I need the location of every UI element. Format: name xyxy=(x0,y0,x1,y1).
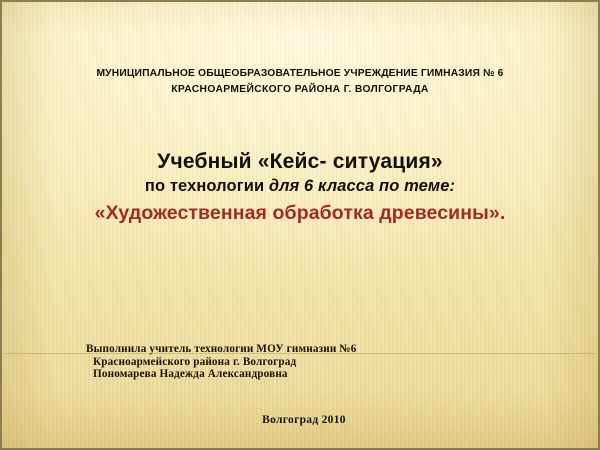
presentation-title-slide: МУНИЦИПАЛЬНОЕ ОБЩЕОБРАЗОВАТЕЛЬНОЕ УЧРЕЖД… xyxy=(0,0,600,450)
title-line-2-italic: для 6 класса по теме: xyxy=(269,177,455,195)
organization-header: МУНИЦИПАЛЬНОЕ ОБЩЕОБРАЗОВАТЕЛЬНОЕ УЧРЕЖД… xyxy=(2,66,598,98)
city-year-footer: Волгоград 2010 xyxy=(2,414,598,426)
title-line-3-subject: «Художественная обработка древесины». xyxy=(2,199,598,227)
title-line-2-plain: по технологии xyxy=(145,177,269,195)
title-line-2: по технологии для 6 класса по теме: xyxy=(2,175,598,198)
author-credit-block: Выполнила учитель технологии МОУ гимнази… xyxy=(86,343,357,381)
author-line-1: Выполнила учитель технологии МОУ гимнази… xyxy=(86,343,357,356)
slide-content: МУНИЦИПАЛЬНОЕ ОБЩЕОБРАЗОВАТЕЛЬНОЕ УЧРЕЖД… xyxy=(2,2,598,448)
organization-header-line-1: МУНИЦИПАЛЬНОЕ ОБЩЕОБРАЗОВАТЕЛЬНОЕ УЧРЕЖД… xyxy=(2,66,598,82)
author-line-3-name: Пономарева Надежда Александровна xyxy=(86,368,357,381)
title-line-1: Учебный «Кейс- ситуация» xyxy=(2,148,598,175)
slide-title-block: Учебный «Кейс- ситуация» по технологии д… xyxy=(2,148,598,227)
organization-header-line-2: КРАСНОАРМЕЙСКОГО РАЙОНА Г. ВОЛГОГРАДА xyxy=(2,82,598,98)
author-line-2: Красноармейского района г. Волгоград xyxy=(86,356,357,369)
